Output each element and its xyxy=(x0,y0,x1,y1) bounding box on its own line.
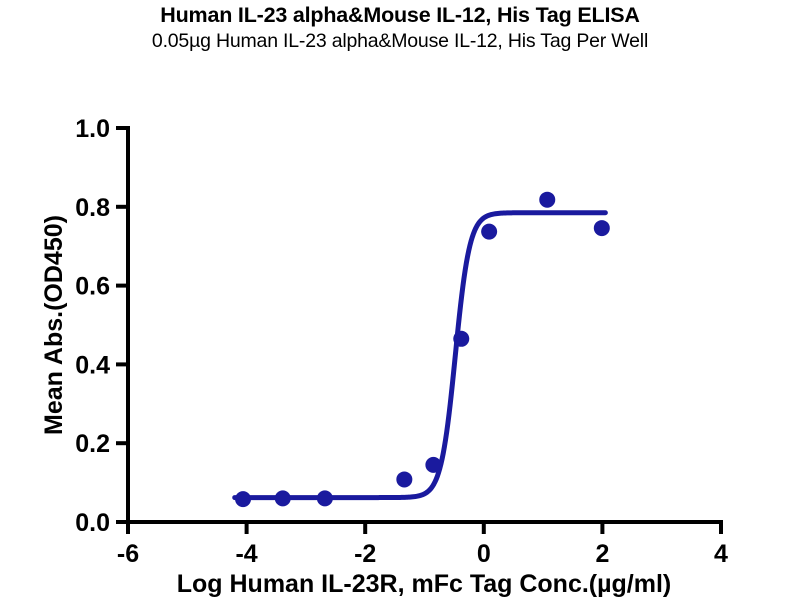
y-tick-label: 0.8 xyxy=(75,194,110,222)
data-point xyxy=(235,491,251,507)
data-point xyxy=(539,192,555,208)
data-point xyxy=(396,471,412,487)
fit-curve xyxy=(235,213,606,498)
data-point xyxy=(481,224,497,240)
data-point xyxy=(594,220,610,236)
x-tick-label: -6 xyxy=(117,540,139,568)
x-tick-label: 4 xyxy=(714,540,728,568)
data-point xyxy=(453,331,469,347)
axis-frame xyxy=(128,128,721,522)
y-tick-label: 0.0 xyxy=(75,509,110,537)
y-tick-label: 0.4 xyxy=(75,351,110,379)
y-tick-label: 0.2 xyxy=(75,430,110,458)
data-point xyxy=(317,490,333,506)
data-point xyxy=(425,457,441,473)
elisa-chart-figure: Human IL-23 alpha&Mouse IL-12, His Tag E… xyxy=(0,0,800,600)
x-axis-tick-labels: -6 -4 -2 0 2 4 xyxy=(117,540,728,568)
y-tick-label: 1.0 xyxy=(75,115,110,143)
plot-svg: 1.0 0.8 0.6 0.4 0.2 0.0 -6 -4 -2 0 2 4 L… xyxy=(0,0,800,600)
y-tick-label: 0.6 xyxy=(75,273,110,301)
x-tick-label: 0 xyxy=(477,540,491,568)
y-axis-tick-labels: 1.0 0.8 0.6 0.4 0.2 0.0 xyxy=(75,115,110,537)
x-tick-label: -2 xyxy=(354,540,376,568)
x-tick-label: 2 xyxy=(595,540,609,568)
y-axis-title: Mean Abs.(OD450) xyxy=(40,215,68,435)
x-tick-label: -4 xyxy=(235,540,257,568)
data-point xyxy=(275,490,291,506)
data-point-markers xyxy=(235,192,610,507)
x-axis-title: Log Human IL-23R, mFc Tag Conc.(µg/ml) xyxy=(177,570,672,598)
